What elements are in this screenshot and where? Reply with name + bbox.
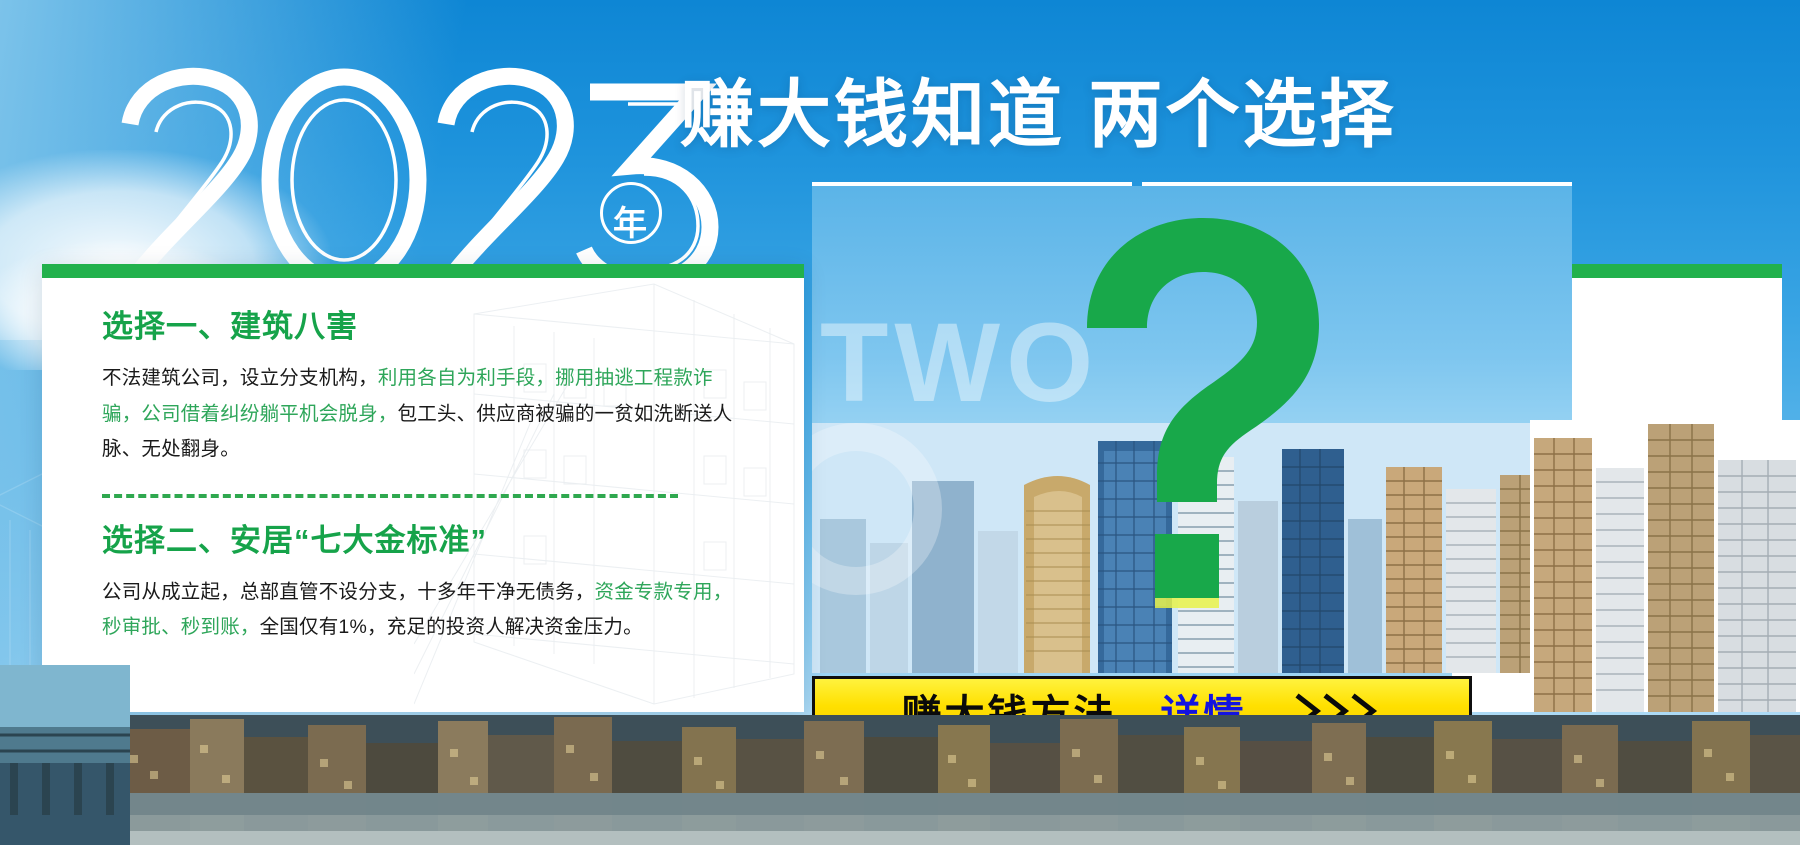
section-two-body-part-1: 公司从成立起，总部直管不设分支，十多年干净无债务， <box>102 581 595 603</box>
poster-root: 年 赚大钱知道 两个选择 TWO CHOICES <box>0 0 1800 845</box>
section-one-title: 选择一、建筑八害 <box>102 308 752 345</box>
section-one-body: 不法建筑公司，设立分支机构，利用各自为利手段，挪用抽逃工程款诈骗，公司借着纠纷躺… <box>102 361 752 467</box>
card-green-top-bar <box>42 264 804 278</box>
bottom-left-riverside <box>0 665 130 845</box>
card-content: 选择一、建筑八害 不法建筑公司，设立分支机构，利用各自为利手段，挪用抽逃工程款诈… <box>102 308 752 646</box>
section-divider <box>102 494 678 498</box>
year-2023-graphic <box>108 62 748 292</box>
section-one-body-part-1: 不法建筑公司，设立分支机构， <box>102 367 378 389</box>
section-two-body-part-3: 全国仅有1%，充足的投资人解决资金压力。 <box>260 616 643 638</box>
page-title: 赚大钱知道 两个选择 <box>680 78 1680 152</box>
section-two-title: 选择二、安居“七大金标准” <box>102 522 752 559</box>
right-image-panel: TWO CHOICES <box>812 186 1572 673</box>
year-suffix-label: 年 <box>613 196 648 245</box>
content-card: 选择一、建筑八害 不法建筑公司，设立分支机构，利用各自为利手段，挪用抽逃工程款诈… <box>42 264 804 712</box>
question-mark-icon <box>1047 202 1347 632</box>
bottom-photo-strip <box>0 715 1800 845</box>
right-edge-buildings <box>1530 420 1800 712</box>
section-one-body-part-2: 利用各自为利手段，挪用抽逃工程款 <box>378 367 693 389</box>
section-two-body: 公司从成立起，总部直管不设分支，十多年干净无债务，资金专款专用，秒审批、秒到账，… <box>102 575 752 646</box>
